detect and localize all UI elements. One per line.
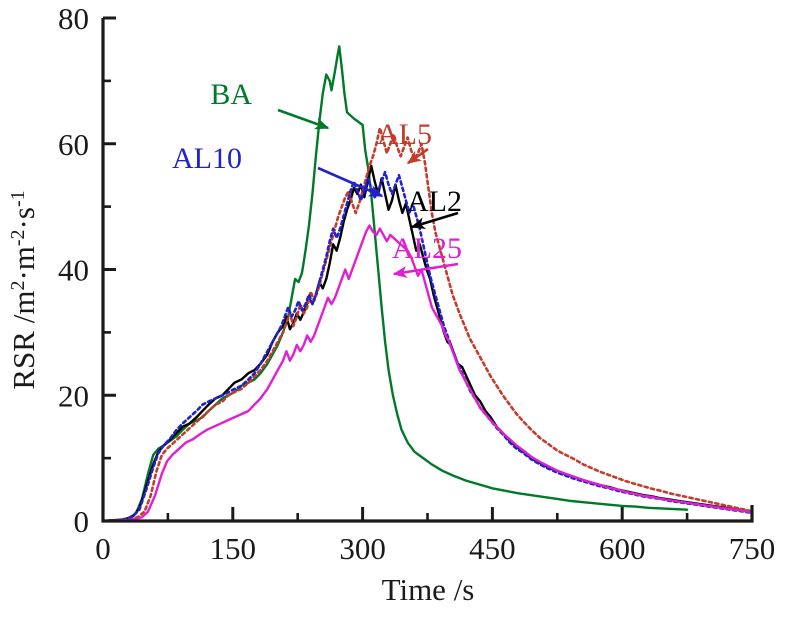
y-tick-label: 40 <box>58 253 89 288</box>
series-label-ba: BA <box>210 78 252 111</box>
x-tick-label: 600 <box>599 531 646 566</box>
y-axis-title-sup1: 2 <box>7 281 29 291</box>
y-tick-label: 0 <box>74 504 90 539</box>
x-tick-label: 450 <box>469 531 516 566</box>
svg-text:RSR /m2·m-2·s-1: RSR /m2·m-2·s-1 <box>6 190 41 389</box>
x-axis-title: Time /s <box>382 572 475 607</box>
y-axis-title-main: RSR /m <box>6 291 41 390</box>
series-label-al10: AL10 <box>172 142 242 175</box>
chart-canvas: 0150300450600750 020406080 BAAL2AL5AL10A… <box>0 0 785 625</box>
series-label-al2: AL2 <box>407 185 462 218</box>
x-tick-label: 750 <box>729 531 776 566</box>
x-tick-label: 150 <box>210 531 257 566</box>
y-tick-label: 80 <box>58 1 89 36</box>
y-axis-title-mid2: ·s <box>6 207 41 229</box>
y-tick-label: 20 <box>58 378 89 413</box>
figure-container: 0150300450600750 020406080 BAAL2AL5AL10A… <box>0 0 785 625</box>
series-line-al10 <box>103 172 752 521</box>
series-annotations: BAAL2AL5AL10AL25 <box>172 78 462 274</box>
y-axis-title: RSR /m2·m-2·s-1 <box>6 190 41 389</box>
series-label-al25: AL25 <box>392 232 462 265</box>
x-tick-label: 0 <box>95 531 111 566</box>
y-tick-label: 60 <box>58 127 89 162</box>
y-axis-title-sup3: -1 <box>7 190 29 207</box>
y-tick-labels: 020406080 <box>58 1 89 539</box>
y-axis-title-mid: ·m <box>6 246 41 280</box>
x-tick-label: 300 <box>339 531 386 566</box>
series-line-al2 <box>103 166 752 521</box>
y-axis-title-sup2: -2 <box>7 229 29 246</box>
x-tick-labels: 0150300450600750 <box>95 531 775 566</box>
series-label-al5: AL5 <box>377 118 432 151</box>
